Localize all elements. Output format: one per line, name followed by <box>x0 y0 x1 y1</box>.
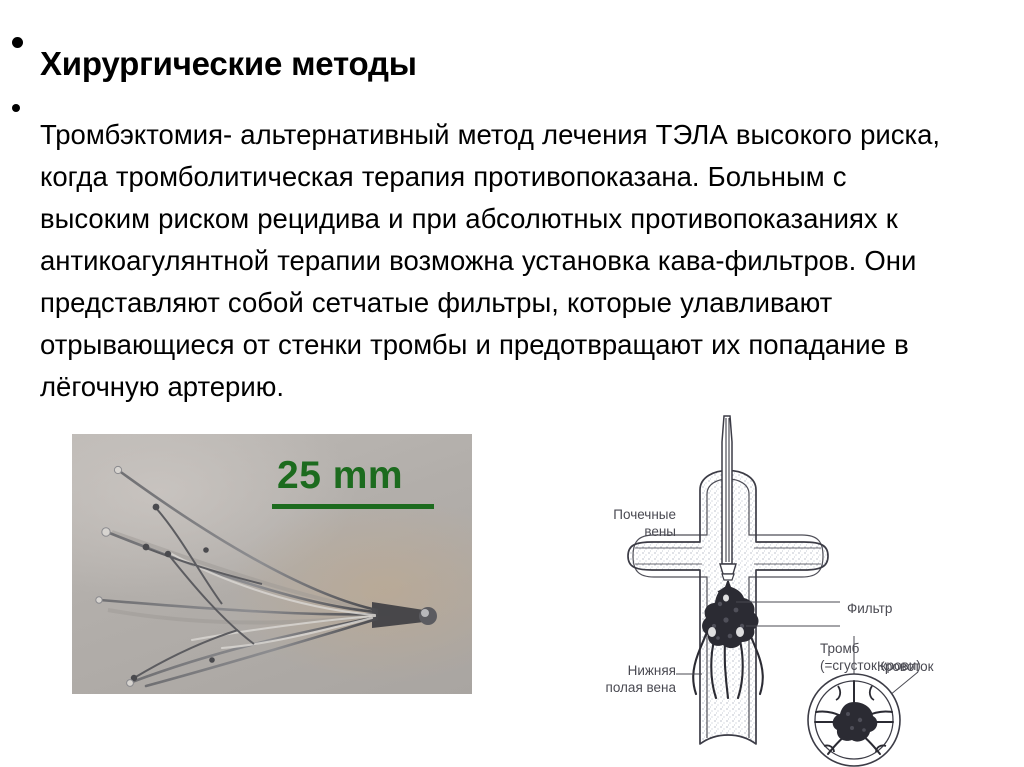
label-blood-flow: Кровоток <box>877 658 934 675</box>
scale-bar-line <box>272 504 434 509</box>
body-paragraph: Тромбэктомия- альтернативный метод лечен… <box>40 114 945 408</box>
page-title: Хирургические методы <box>40 42 417 86</box>
vena-cava-illustration <box>540 414 1024 767</box>
slide: Хирургические методы Тромбэктомия- альте… <box>0 0 1024 767</box>
title-bullet-icon <box>12 37 23 48</box>
label-renal-veins: Почечные вены <box>560 506 676 540</box>
label-filter: Фильтр <box>847 600 892 617</box>
filter-wires-illustration <box>72 434 472 694</box>
label-inferior-vena-cava: Нижняя полая вена <box>556 662 676 696</box>
cava-filter-photo: 25 mm <box>72 434 472 694</box>
scale-bar-label: 25 mm <box>277 456 403 495</box>
body-bullet-row: Тромбэктомия- альтернативный метод лечен… <box>12 86 967 435</box>
body-bullet-icon <box>12 104 20 112</box>
vena-cava-filter-diagram: Почечные вены Нижняя полая вена Фильтр Т… <box>540 414 1024 767</box>
